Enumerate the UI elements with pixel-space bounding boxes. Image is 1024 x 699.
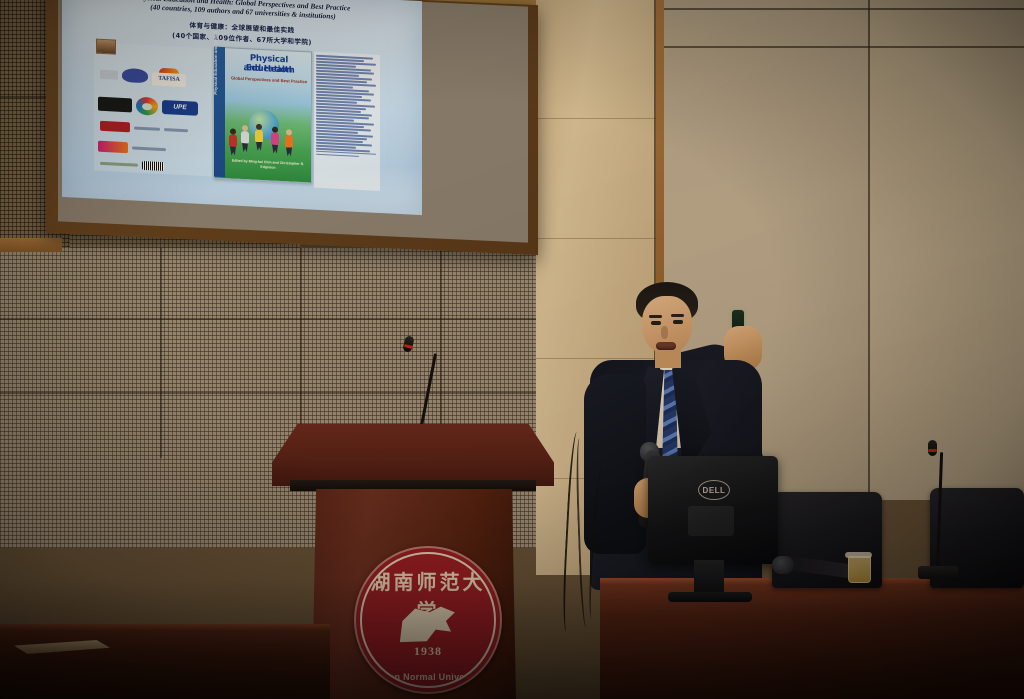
- wall-seam: [0, 318, 540, 320]
- wall-seam: [868, 0, 870, 500]
- university-emblem: 湖南师范大学 1938 Hunan Normal University: [354, 546, 502, 694]
- runner-figure: [229, 128, 237, 154]
- runner-figure: [271, 126, 279, 152]
- emblem-university-name-en: Hunan Normal University: [362, 672, 494, 682]
- dell-logo: DELL: [698, 480, 730, 500]
- book-spine: Physical Education and Health: [214, 47, 225, 178]
- speaker-mouth: [656, 342, 676, 350]
- isbn-barcode: [142, 161, 164, 171]
- microphone-red-ring: [928, 449, 937, 452]
- lecture-hall-photo: Physical Education and Health: Global Pe…: [0, 0, 1024, 699]
- presentation-slide: Physical Education and Health: Global Pe…: [62, 0, 422, 215]
- partner-logo-text: [164, 128, 188, 132]
- table-microphone-base: [918, 566, 958, 579]
- monitor-stand: [694, 560, 724, 596]
- handheld-microphone-head: [772, 556, 794, 574]
- fiep-logo: [122, 68, 148, 83]
- podium-top: [272, 424, 554, 486]
- runner-figure: [285, 129, 293, 155]
- book-cover: Physical Education and Health Global Per…: [214, 47, 312, 184]
- sagamore-logo: [100, 162, 138, 167]
- icsspe-logo: [100, 69, 118, 79]
- slide-logo-panel: TAFISA UPE: [94, 43, 212, 177]
- tea-cup-lid: [845, 552, 872, 558]
- partner-logo-pink: [98, 141, 128, 154]
- slide-contents-text-block: [314, 52, 380, 191]
- conference-table-right: [600, 578, 1024, 699]
- book-subtitle: Global Perspectives and Best Practice: [227, 75, 311, 84]
- wall-seam: [160, 248, 162, 458]
- monitor-base: [668, 592, 752, 602]
- wall-seam: [656, 46, 1024, 48]
- speaker-nose: [661, 326, 668, 339]
- computer-monitor: DELL: [648, 456, 778, 564]
- partner-logo-text: [132, 146, 166, 151]
- partner-logo-text: [134, 126, 160, 130]
- table-left-edge: [0, 624, 330, 630]
- wood-trim: [0, 238, 62, 252]
- speaker-eye: [651, 321, 661, 325]
- tafisa-logo-label: TAFISA: [152, 72, 186, 87]
- stone-wall-far-right: [870, 0, 1024, 500]
- upe-logo: UPE: [162, 100, 198, 116]
- book-editors: Edited by Ming-kai Chin and Christopher …: [225, 158, 311, 172]
- tafisa-logo: TAFISA: [152, 67, 186, 87]
- partner-logo-dark: [98, 97, 132, 113]
- portrait-photo: [96, 39, 116, 55]
- runner-figure: [255, 124, 263, 150]
- tea-cup: [848, 556, 871, 583]
- speaker-eyebrow: [649, 315, 662, 318]
- wall-seam: [656, 8, 1024, 10]
- wall-seam: [0, 392, 540, 394]
- speaker-eyebrow: [671, 314, 684, 317]
- olympic-ring-logo: [136, 97, 158, 116]
- table-left: [0, 624, 330, 699]
- table-microphone-head: [928, 440, 937, 456]
- book-spine-text: Physical Education and Health: [213, 84, 218, 95]
- emblem-year: 1938: [362, 644, 494, 659]
- runner-figure: [241, 125, 249, 151]
- monitor-label: [688, 506, 734, 536]
- partner-logo-red: [100, 121, 130, 133]
- speaker-eye: [673, 320, 683, 324]
